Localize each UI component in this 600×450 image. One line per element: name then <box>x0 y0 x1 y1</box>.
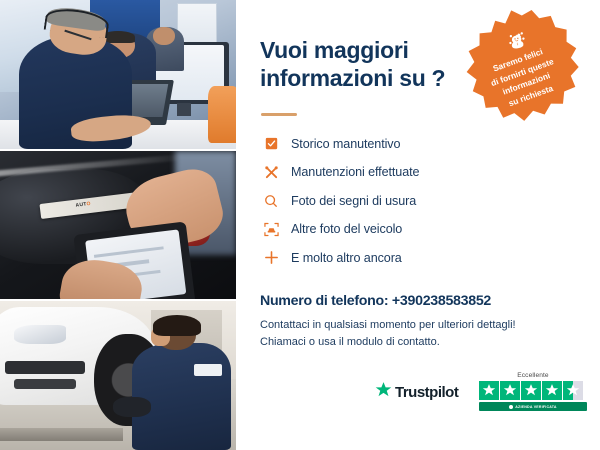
title-divider <box>261 113 297 116</box>
content-panel: Vuoi maggiori informazioni su ? ⛇ Saremo… <box>236 0 600 450</box>
feature-item-altro-ancora[interactable]: E molto altro ancora <box>260 245 520 270</box>
car-scan-icon <box>260 220 282 238</box>
verified-label: AZIENDA VERIFICATA <box>515 405 556 409</box>
trustpilot-widget[interactable]: Trustpilot Eccellente <box>375 372 587 414</box>
feature-label: Manutenzioni effettuate <box>291 165 419 179</box>
call-center-agents-photo <box>0 0 236 149</box>
feature-item-manutenzioni[interactable]: Manutenzioni effettuate <box>260 160 520 185</box>
verified-company-badge: AZIENDA VERIFICATA <box>479 402 587 411</box>
star-filled <box>521 381 541 401</box>
star-filled <box>542 381 562 401</box>
trustpilot-rating-label: Eccellente <box>479 372 587 379</box>
trustpilot-rating: Eccellente <box>479 372 587 411</box>
star-half <box>563 381 583 401</box>
feature-label: E molto altro ancora <box>291 251 402 265</box>
verified-check-icon <box>509 405 513 409</box>
contact-subtext-line-2: Chiamaci o usa il modulo di contatto. <box>260 334 560 351</box>
check-square-icon <box>260 135 282 153</box>
star-filled <box>500 381 520 401</box>
mechanic-wheel-photo <box>0 301 236 450</box>
trustpilot-stars <box>479 381 587 401</box>
feature-item-altre-foto[interactable]: Altre foto del veicolo <box>260 217 520 242</box>
tools-cross-icon <box>260 163 282 181</box>
trustpilot-logo: Trustpilot <box>375 381 458 403</box>
star-filled <box>479 381 499 401</box>
feature-label: Altre foto del veicolo <box>291 222 402 236</box>
contact-subtext-line-1: Contattaci in qualsiasi momento per ulte… <box>260 317 560 334</box>
feature-label: Storico manutentivo <box>291 137 400 151</box>
feature-label: Foto dei segni di usura <box>291 194 416 208</box>
trustpilot-star-icon <box>375 381 392 403</box>
callout-badge: ⛇ Saremo felici di fornirti queste infor… <box>453 0 591 135</box>
page-title: Vuoi maggiori informazioni su ? <box>260 36 475 92</box>
promo-banner: AUTO Vuoi maggiori <box>0 0 600 450</box>
title-line-2: informazioni su ? <box>260 64 475 92</box>
title-line-1: Vuoi maggiori <box>260 36 475 64</box>
feature-item-foto-usura[interactable]: Foto dei segni di usura <box>260 188 520 213</box>
magnifier-icon <box>260 192 282 210</box>
strip-brand: AUTO <box>75 201 91 209</box>
photo-column: AUTO <box>0 0 236 450</box>
phone-number-line[interactable]: Numero di telefono: +390238583852 <box>260 293 580 309</box>
feature-list: Storico manutentivo Manutenzioni effettu… <box>260 131 520 274</box>
plus-icon <box>260 249 282 267</box>
vehicle-inspection-photo: AUTO <box>0 151 236 300</box>
trustpilot-name: Trustpilot <box>395 384 458 401</box>
feature-item-storico[interactable]: Storico manutentivo <box>260 131 520 156</box>
contact-subtext: Contattaci in qualsiasi momento per ulte… <box>260 317 560 351</box>
